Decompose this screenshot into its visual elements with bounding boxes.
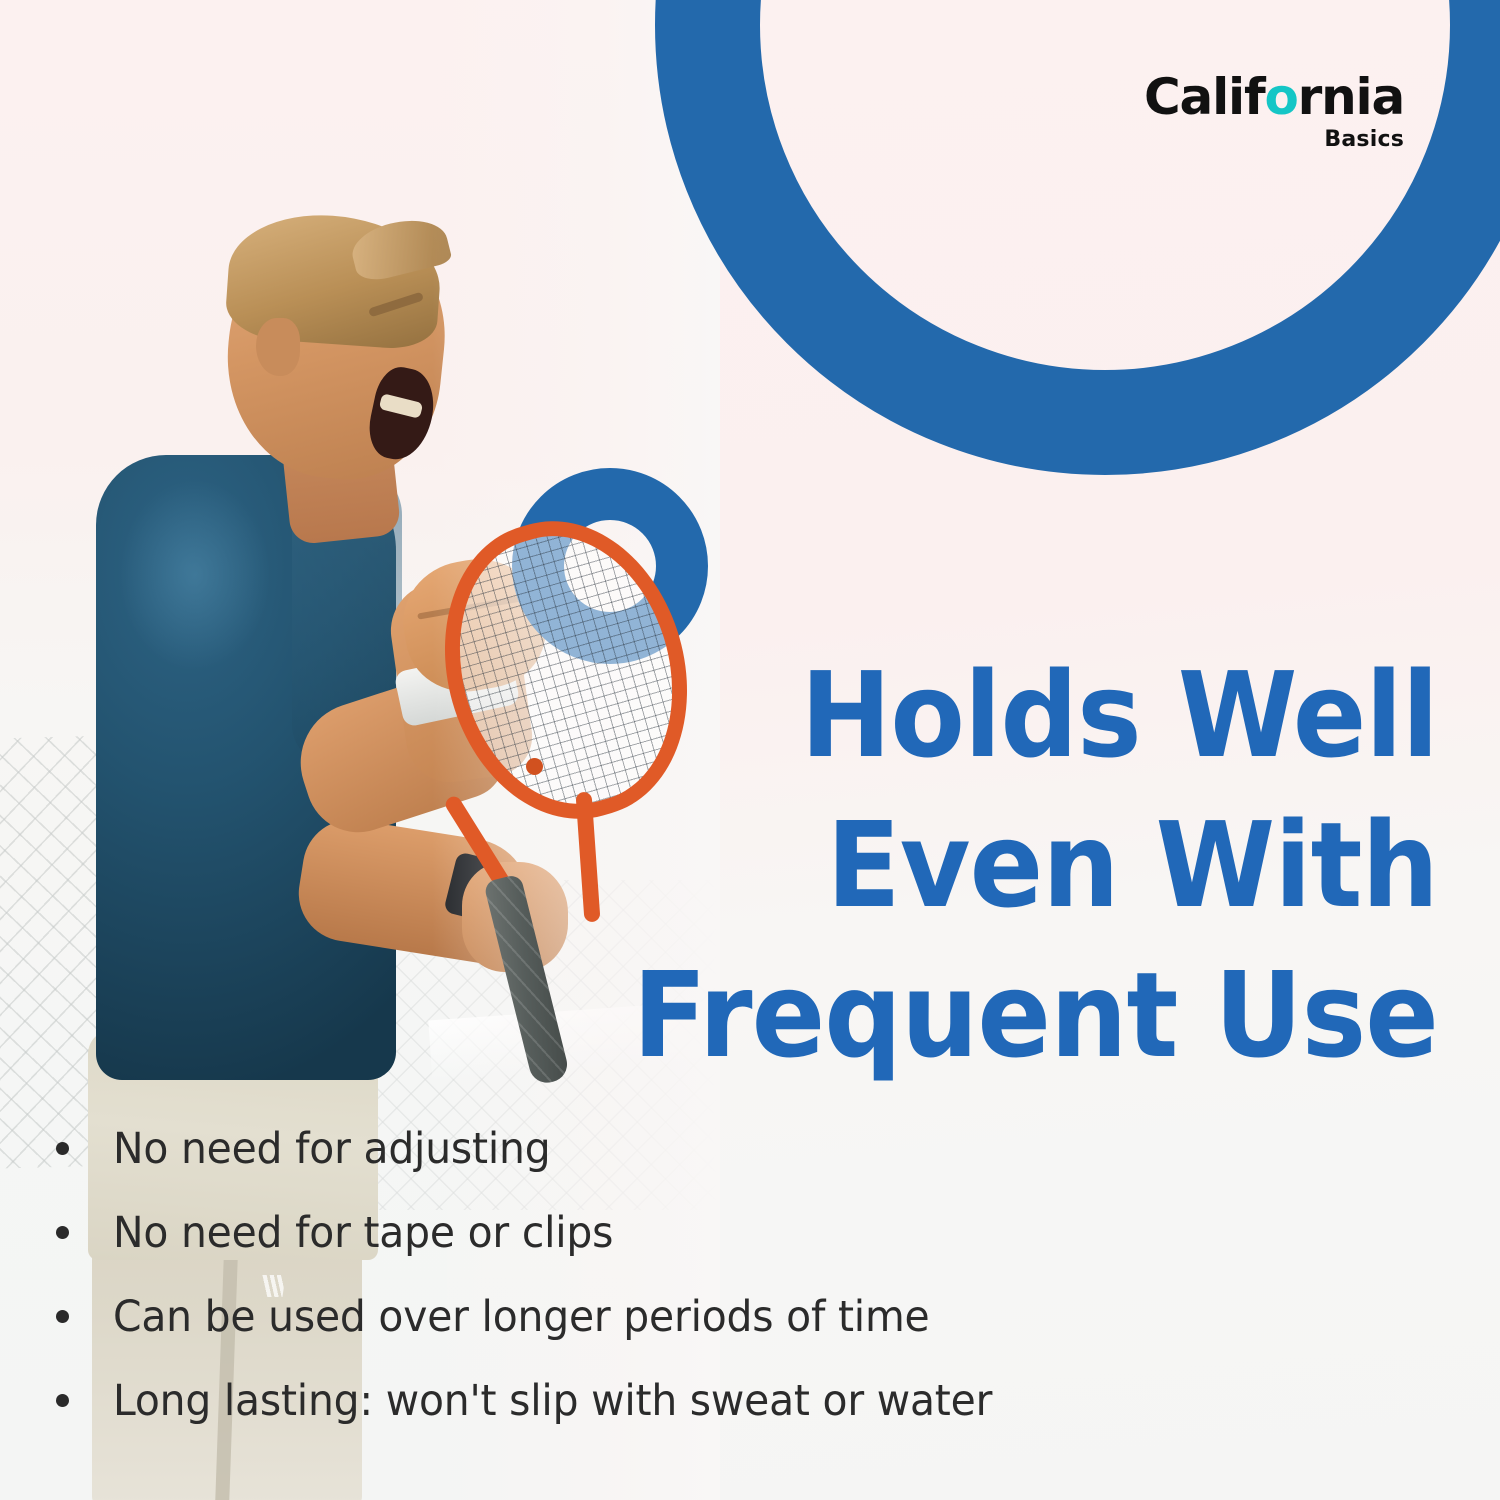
list-item-label: Can be used over longer periods of time bbox=[113, 1292, 929, 1342]
page-title: Holds Well Even With Frequent Use bbox=[610, 640, 1438, 1090]
bullet-dot-icon bbox=[56, 1310, 69, 1323]
bullet-dot-icon bbox=[56, 1142, 69, 1155]
list-item-label: No need for adjusting bbox=[113, 1124, 550, 1174]
list-item: No need for adjusting bbox=[56, 1124, 1336, 1208]
brand-logo: California Basics bbox=[1144, 72, 1404, 151]
headline-line-1: Holds Well bbox=[610, 640, 1438, 790]
list-item: Long lasting: won't slip with sweat or w… bbox=[56, 1376, 1336, 1460]
bullet-dot-icon bbox=[56, 1226, 69, 1239]
list-item-label: Long lasting: won't slip with sweat or w… bbox=[113, 1376, 992, 1426]
logo-subtitle: Basics bbox=[1144, 129, 1404, 151]
logo-text-before-o: Calif bbox=[1144, 68, 1264, 126]
bullet-dot-icon bbox=[56, 1394, 69, 1407]
racket-grip bbox=[483, 874, 571, 1087]
list-item-label: No need for tape or clips bbox=[113, 1208, 613, 1258]
headline-line-3: Frequent Use bbox=[610, 940, 1438, 1090]
ball-marking bbox=[526, 758, 543, 775]
list-item: No need for tape or clips bbox=[56, 1208, 1336, 1292]
logo-teal-o-icon: o bbox=[1265, 68, 1298, 126]
headline-line-2: Even With bbox=[610, 790, 1438, 940]
benefits-list: No need for adjusting No need for tape o… bbox=[56, 1124, 1336, 1460]
promo-graphic: California Basics Holds Well Even With F… bbox=[0, 0, 1500, 1500]
list-item: Can be used over longer periods of time bbox=[56, 1292, 1336, 1376]
logo-text-after-o: rnia bbox=[1298, 68, 1404, 126]
player-ear bbox=[256, 318, 300, 376]
logo-wordmark: California bbox=[1144, 72, 1404, 122]
shirt-highlight bbox=[120, 480, 270, 670]
